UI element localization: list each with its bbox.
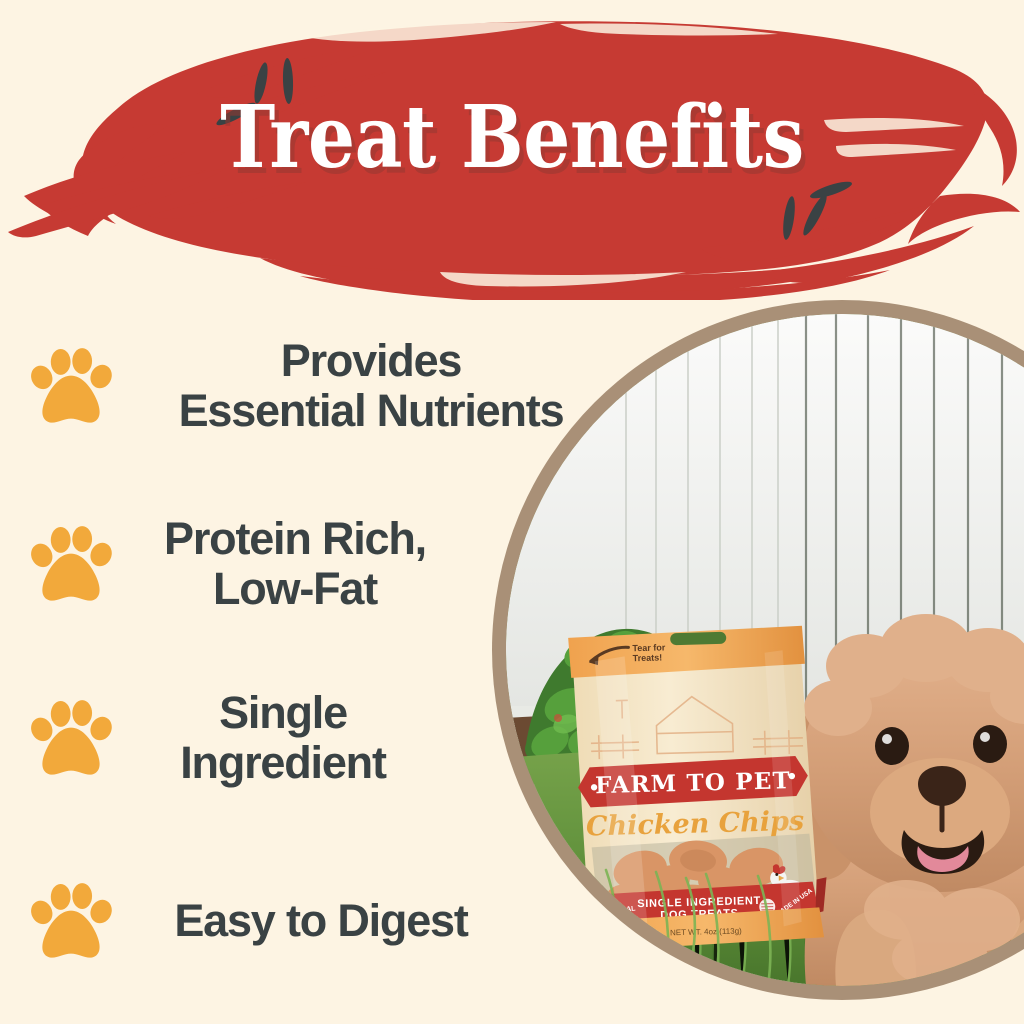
page-title: Treat Benefits: [72, 92, 953, 184]
benefit-label: Single Ingredient: [114, 688, 452, 788]
header-banner: Treat Benefits: [0, 0, 1024, 300]
paw-icon: [28, 878, 114, 964]
benefit-item-2: Protein Rich, Low-Fat: [28, 514, 476, 614]
paw-icon: [28, 343, 114, 429]
benefit-item-3: Single Ingredient: [28, 688, 452, 788]
svg-text:Treats!: Treats!: [633, 652, 663, 663]
benefit-item-4: Easy to Digest: [28, 878, 528, 964]
paw-icon: [28, 695, 114, 781]
benefit-label: Protein Rich, Low-Fat: [114, 514, 476, 614]
svg-text:NET WT. 4oz (113g): NET WT. 4oz (113g): [670, 926, 742, 937]
infographic-canvas: Treat Benefits Provides Essential Nutrie…: [0, 0, 1024, 1024]
photo-scene: Tear for Treats!: [506, 314, 1024, 986]
paw-icon: [28, 521, 114, 607]
product-photo-frame: Tear for Treats!: [492, 300, 1024, 1000]
product-photo: Tear for Treats!: [506, 314, 1024, 986]
benefit-label: Easy to Digest: [114, 896, 528, 946]
product-package: Tear for Treats!: [568, 625, 828, 951]
